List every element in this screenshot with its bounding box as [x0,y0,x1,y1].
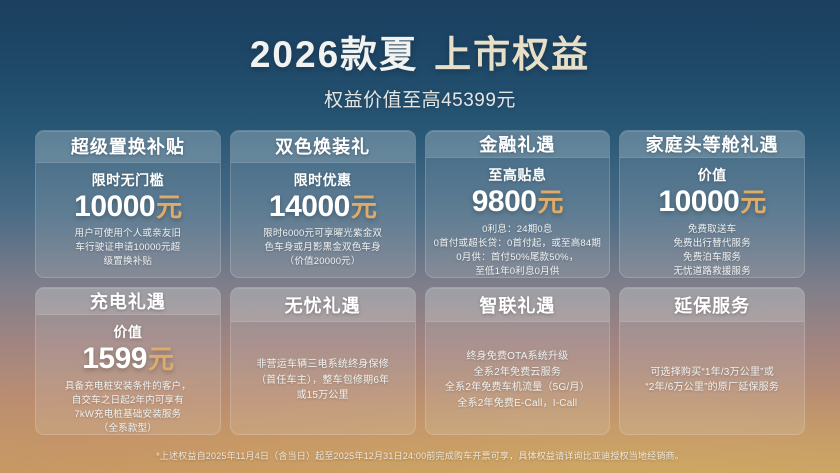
benefit-kicker: 限时优惠 [294,170,352,190]
benefit-card-title: 充电礼遇 [90,288,166,314]
benefit-description-line: 全系2年免费云服务 [445,365,590,381]
benefit-card-body: 可选择购买“1年/3万公里”或 “2年/6万公里”的原厂延保服务 [620,322,804,434]
page-title: 2026款夏上市权益 [0,34,840,75]
benefit-description: 终身免费OTA系统升级 全系2年免费云服务 全系2年免费车机流量（5G/月） 全… [445,349,590,411]
benefit-description-line: （全系款型） [65,422,191,435]
benefit-card-header: 延保服务 [620,288,804,322]
benefit-description-line: 限时6000元可享曜光紫金双 [263,227,382,241]
benefit-price-unit: 元 [351,192,377,222]
benefit-description-line: 0首付或超长贷：0首付起，或至高84期 [434,237,601,251]
benefit-card-header: 家庭头等舱礼遇 [620,131,804,158]
benefit-card-header: 超级置换补贴 [36,131,220,162]
legal-footnote: *上述权益自2025年11月4日（含当日）起至2025年12月31日24:00前… [0,449,840,462]
benefit-card-body: 价值 10000元 免费取送车 免费出行替代服务 免费泊车服务 无忧道路救援服务 [620,158,804,278]
page-title-main: 2026款夏 [250,34,418,75]
benefit-card-body: 限时优惠 14000元 限时6000元可享曜光紫金双 色车身或月影黑金双色车身 … [231,163,415,278]
benefit-price: 14000元 [269,191,376,223]
benefit-card-header: 双色焕装礼 [231,131,415,162]
benefit-description-line: 免费泊车服务 [673,251,751,265]
page-subtitle: 权益价值至高45399元 [0,85,840,112]
benefit-card[interactable]: 智联礼遇 终身免费OTA系统升级 全系2年免费云服务 全系2年免费车机流量（5G… [425,287,611,435]
benefit-description-line: 具备充电桩安装条件的客户， [65,380,191,394]
benefit-description-line: 车行驶证申请10000元超 [75,241,182,255]
benefit-card-body: 限时无门槛 10000元 用户可使用个人或亲友旧 车行驶证申请10000元超 级… [36,163,220,278]
benefit-description-line: 用户可使用个人或亲友旧 [75,227,182,241]
benefit-description-line: 非营运车辆三电系统终身保修 [256,357,389,373]
benefit-description-line: 免费出行替代服务 [673,237,751,251]
benefit-description: 0利息：24期0息 0首付或超长贷：0首付起，或至高84期 0月供：首付50%尾… [434,223,601,278]
benefit-price: 10000元 [74,191,181,223]
benefit-description-line: （价值20000元） [263,255,382,269]
benefit-price-value: 9800 [472,185,537,218]
benefit-card-body: 非营运车辆三电系统终身保修 （首任车主），整车包修期6年 或15万公里 [231,322,415,434]
benefit-price-value: 10000 [658,185,739,218]
benefit-card-body: 终身免费OTA系统升级 全系2年免费云服务 全系2年免费车机流量（5G/月） 全… [426,322,610,434]
benefit-card[interactable]: 金融礼遇 至高贴息 9800元 0利息：24期0息 0首付或超长贷：0首付起，或… [425,130,611,278]
benefit-card-body: 价值 1599元 具备充电桩安装条件的客户， 自交车之日起2年内可享有 7kW充… [36,315,220,435]
benefit-card-header: 智联礼遇 [426,288,610,322]
benefit-price-unit: 元 [156,192,182,222]
benefit-description-line: 0月供：首付50%尾款50%， [434,251,601,265]
benefit-kicker: 价值 [113,322,142,342]
benefit-card-title: 超级置换补贴 [71,133,185,159]
benefit-price-value: 10000 [74,190,155,223]
benefit-description: 可选择购买“1年/3万公里”或 “2年/6万公里”的原厂延保服务 [645,365,779,396]
benefit-price: 10000元 [658,186,765,218]
benefit-card[interactable]: 双色焕装礼 限时优惠 14000元 限时6000元可享曜光紫金双 色车身或月影黑… [230,130,416,278]
benefit-description-line: 级置换补贴 [75,255,182,269]
benefit-card-title: 无忧礼遇 [285,292,361,318]
benefit-card-body: 至高贴息 9800元 0利息：24期0息 0首付或超长贷：0首付起，或至高84期… [426,158,610,278]
benefit-card-title: 延保服务 [674,292,750,318]
benefit-price: 1599元 [82,343,173,375]
benefit-card[interactable]: 超级置换补贴 限时无门槛 10000元 用户可使用个人或亲友旧 车行驶证申请10… [35,130,221,278]
benefit-price-value: 1599 [82,342,147,375]
benefit-description-line: 或15万公里 [256,388,389,404]
benefit-description-line: 全系2年免费E-Call，I-Call [445,396,590,412]
benefit-kicker: 价值 [698,165,727,185]
benefit-description-line: 7kW充电桩基础安装服务 [65,408,191,422]
benefit-price-unit: 元 [740,187,766,217]
benefit-card-header: 无忧礼遇 [231,288,415,322]
benefit-description: 免费取送车 免费出行替代服务 免费泊车服务 无忧道路救援服务 [673,223,751,278]
benefit-card-header: 金融礼遇 [426,131,610,158]
benefit-description-line: 自交车之日起2年内可享有 [65,394,191,408]
benefit-card[interactable]: 家庭头等舱礼遇 价值 10000元 免费取送车 免费出行替代服务 免费泊车服务 … [619,130,805,278]
benefit-card-header: 充电礼遇 [36,288,220,315]
benefit-description-line: 全系2年免费车机流量（5G/月） [445,380,590,396]
benefit-price-value: 14000 [269,190,350,223]
benefit-card-title: 金融礼遇 [479,131,555,157]
benefit-description-line: 0利息：24期0息 [434,223,601,237]
benefit-card[interactable]: 延保服务 可选择购买“1年/3万公里”或 “2年/6万公里”的原厂延保服务 [619,287,805,435]
benefit-description-line: 可选择购买“1年/3万公里”或 [645,365,779,381]
benefit-card[interactable]: 充电礼遇 价值 1599元 具备充电桩安装条件的客户， 自交车之日起2年内可享有… [35,287,221,435]
benefit-description-line: 至低1年0利息0月供 [434,265,601,278]
benefit-kicker: 限时无门槛 [92,170,165,190]
benefit-description-line: （首任车主），整车包修期6年 [256,373,389,389]
benefit-description: 用户可使用个人或亲友旧 车行驶证申请10000元超 级置换补贴 [75,227,182,269]
benefit-card[interactable]: 无忧礼遇 非营运车辆三电系统终身保修 （首任车主），整车包修期6年 或15万公里 [230,287,416,435]
benefit-description-line: 色车身或月影黑金双色车身 [263,241,382,255]
benefit-price: 9800元 [472,186,563,218]
benefit-card-title: 智联礼遇 [479,292,555,318]
benefit-description-line: 终身免费OTA系统升级 [445,349,590,365]
promo-poster: 2026款夏上市权益 权益价值至高45399元 超级置换补贴 限时无门槛 100… [0,0,840,473]
benefit-price-unit: 元 [148,344,174,374]
benefit-description: 非营运车辆三电系统终身保修 （首任车主），整车包修期6年 或15万公里 [256,357,389,404]
benefit-description: 具备充电桩安装条件的客户， 自交车之日起2年内可享有 7kW充电桩基础安装服务 … [65,380,191,435]
benefit-description-line: “2年/6万公里”的原厂延保服务 [645,380,779,396]
benefit-card-title: 双色焕装礼 [275,133,370,159]
benefit-description: 限时6000元可享曜光紫金双 色车身或月影黑金双色车身 （价值20000元） [263,227,382,269]
page-title-accent: 上市权益 [434,34,590,75]
benefit-card-grid: 超级置换补贴 限时无门槛 10000元 用户可使用个人或亲友旧 车行驶证申请10… [35,130,805,435]
benefit-price-unit: 元 [537,187,563,217]
benefit-description-line: 无忧道路救援服务 [673,265,751,278]
benefit-kicker: 至高贴息 [488,165,546,185]
poster-header: 2026款夏上市权益 权益价值至高45399元 [0,0,840,112]
benefit-description-line: 免费取送车 [673,223,751,237]
benefit-card-title: 家庭头等舱礼遇 [646,131,779,157]
